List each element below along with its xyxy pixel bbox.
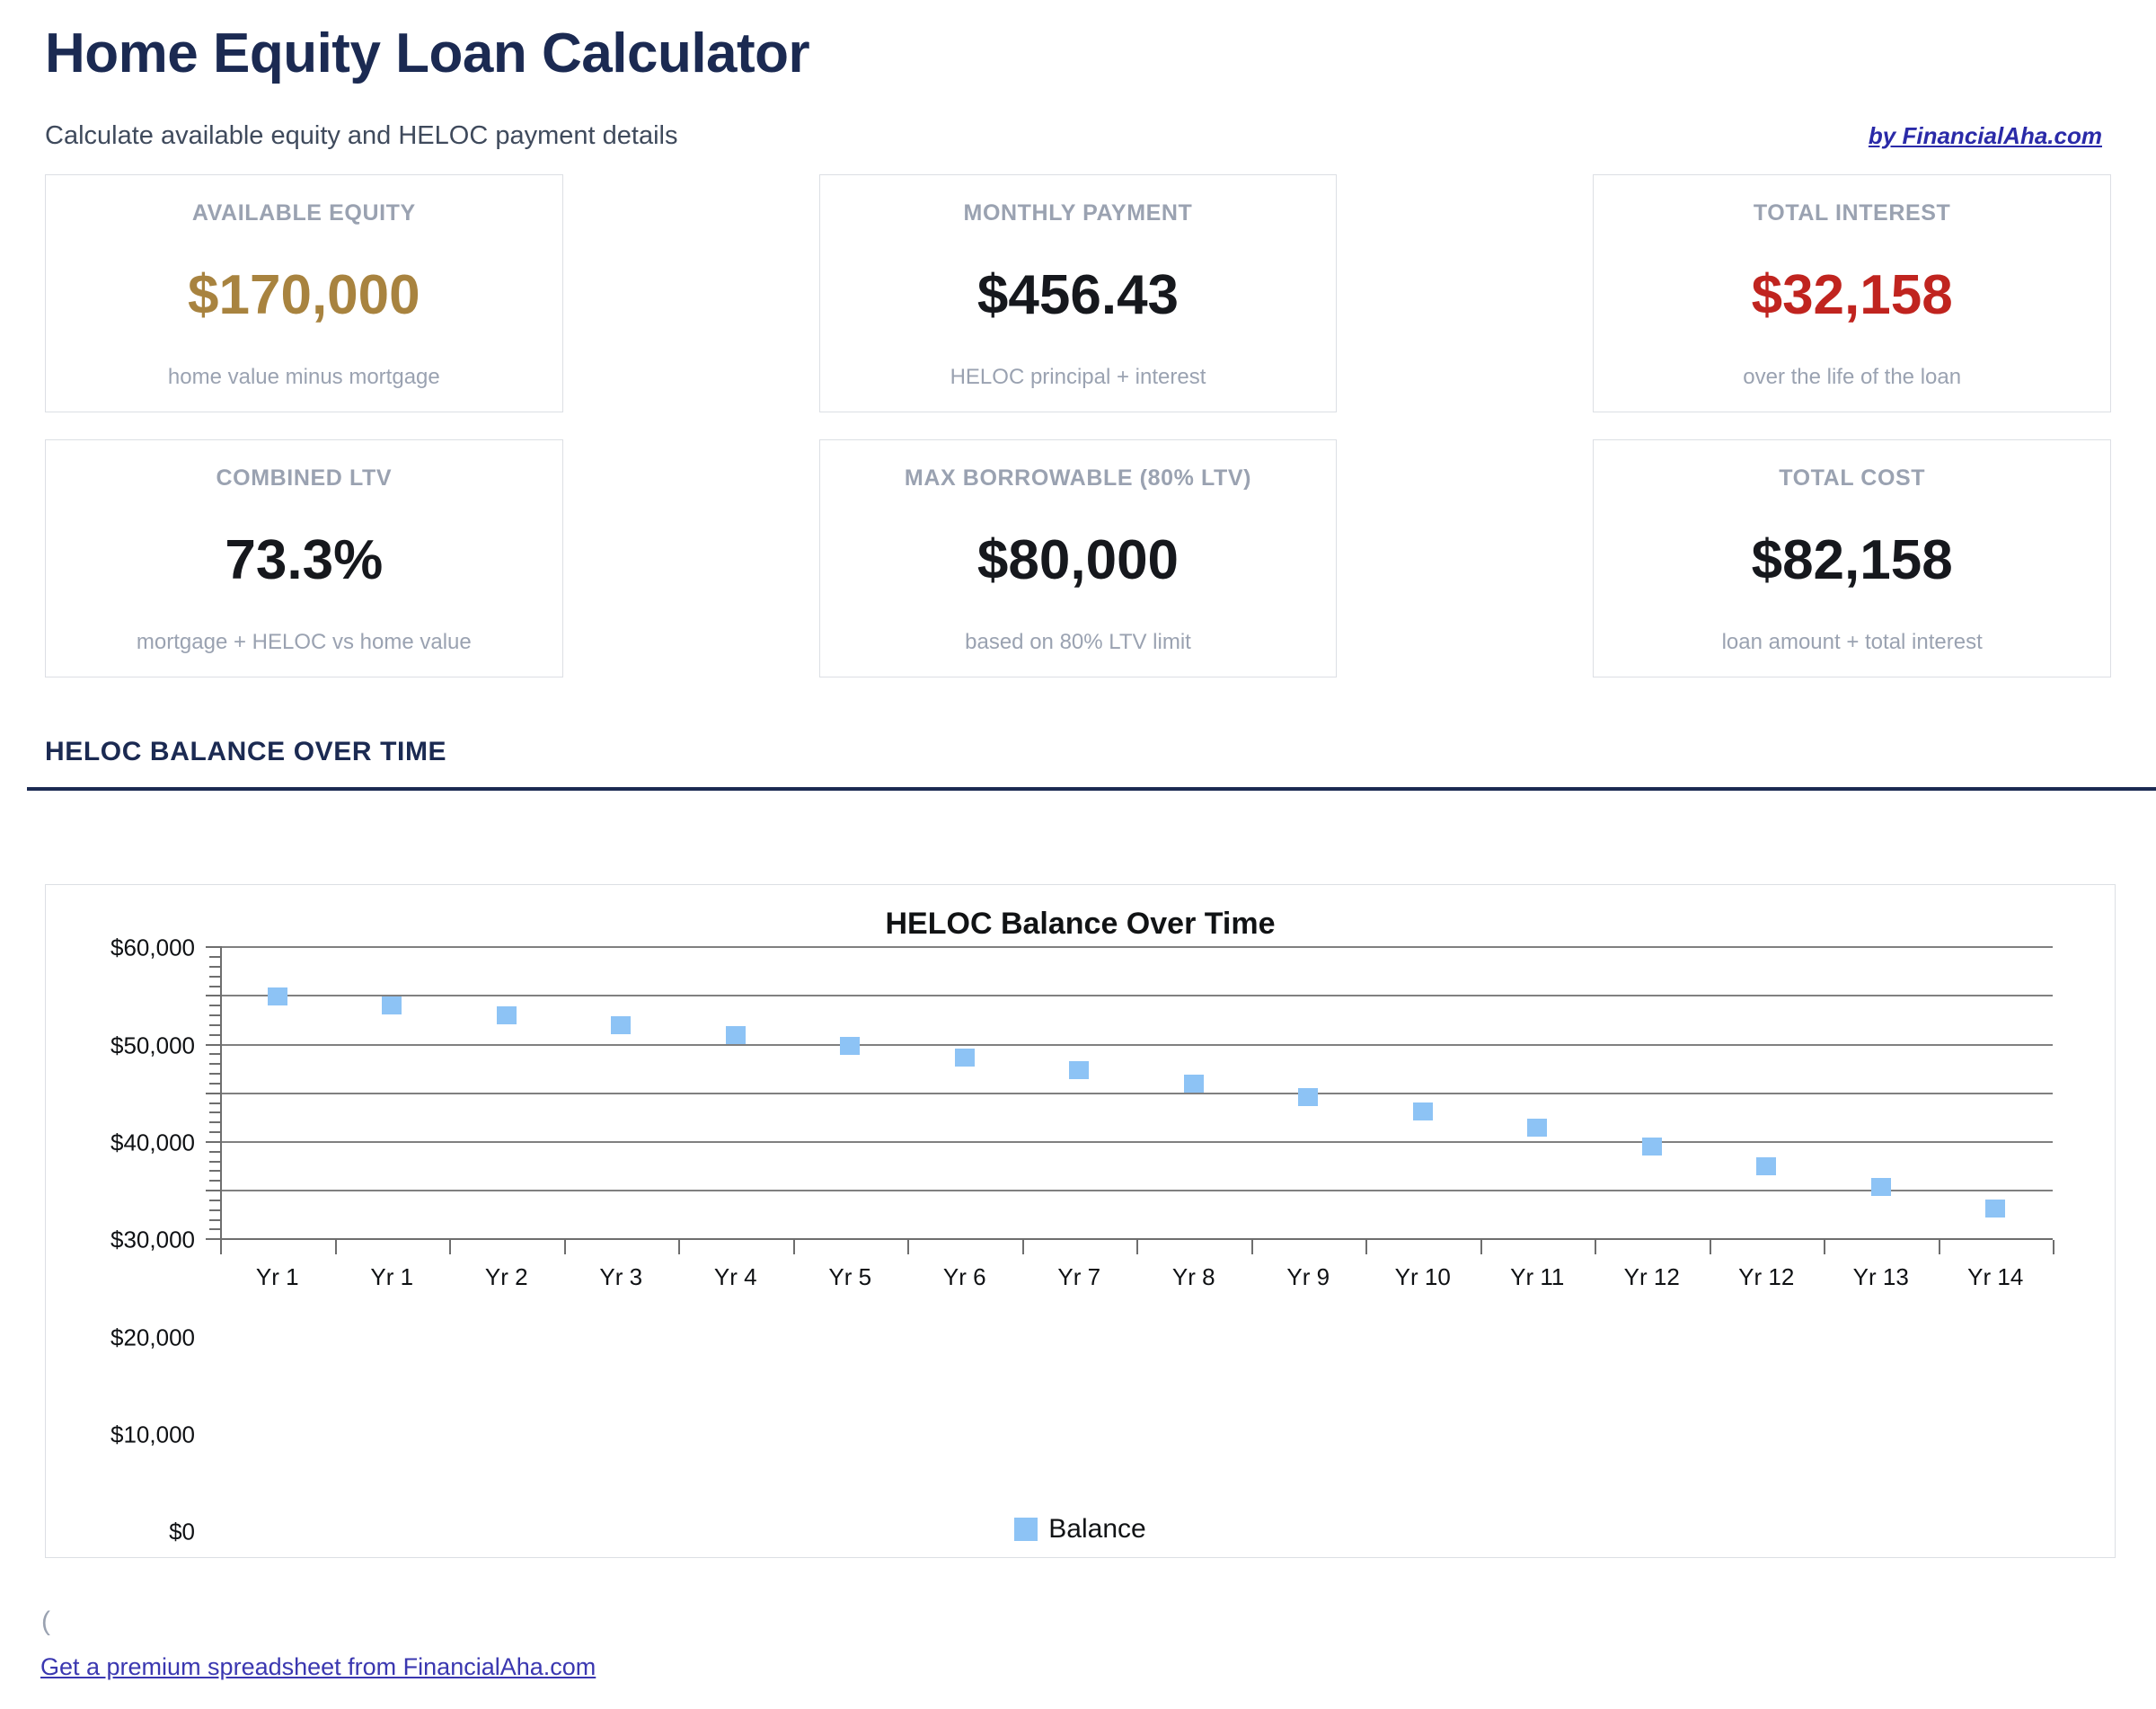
stat-note: loan amount + total interest [1722,630,1983,655]
y-tick-label: $20,000 [110,1324,195,1351]
legend-swatch-balance [1014,1518,1038,1541]
data-point-marker [1642,1138,1662,1156]
section-heading: HELOC BALANCE OVER TIME [45,737,2111,767]
x-tick-label: Yr 10 [1395,1263,1451,1291]
data-point-marker [1413,1102,1433,1120]
y-minor-tick [209,1131,222,1133]
x-tick [335,1240,337,1254]
x-tick-label: Yr 4 [714,1263,757,1291]
stat-card-available-equity: AVAILABLE EQUITY $170,000 home value min… [45,174,563,412]
y-minor-tick [209,986,222,987]
x-tick [678,1240,680,1254]
y-minor-tick [209,1073,222,1075]
y-minor-tick [209,1161,222,1163]
x-tick [449,1240,451,1254]
x-tick [220,1240,222,1254]
y-tick-label: $30,000 [110,1226,195,1254]
y-minor-tick [209,1228,222,1230]
y-tick: $20,000 [206,1141,222,1143]
y-axis: $0$10,000$20,000$30,000$40,000$50,000$60… [220,946,222,1238]
y-minor-tick [209,966,222,968]
page-title: Home Equity Loan Calculator [45,0,2111,85]
stat-value: $82,158 [1752,533,1953,589]
x-tick-label: Yr 14 [1967,1263,2023,1291]
stat-value: $456.43 [977,268,1179,323]
chart-legend: Balance [46,1514,2115,1545]
stat-value: $32,158 [1752,268,1953,323]
x-tick [1251,1240,1253,1254]
stat-card-total-cost: TOTAL COST $82,158 loan amount + total i… [1593,439,2111,677]
data-point-marker [268,987,287,1005]
y-tick: $10,000 [206,1190,222,1191]
gridline [220,946,2053,948]
y-tick-label: $10,000 [110,1421,195,1448]
x-tick-label: Yr 12 [1738,1263,1794,1291]
y-minor-tick [209,1102,222,1104]
x-tick-label: Yr 11 [1510,1263,1564,1291]
legend-label-balance: Balance [1048,1514,1145,1545]
gridline [220,1044,2053,1046]
y-minor-tick [209,1034,222,1036]
data-point-marker [1527,1119,1547,1137]
y-minor-tick [209,1111,222,1113]
x-tick-label: Yr 9 [1286,1263,1330,1291]
x-tick-label: Yr 8 [1172,1263,1215,1291]
x-tick-label: Yr 3 [599,1263,642,1291]
stat-note: home value minus mortgage [168,365,440,390]
data-point-marker [1756,1157,1776,1175]
y-minor-tick [209,1083,222,1085]
data-point-marker [1871,1178,1891,1196]
x-tick [1136,1240,1138,1254]
x-tick [2053,1240,2054,1254]
data-point-marker [1985,1200,2005,1218]
x-tick [1710,1240,1711,1254]
stat-value: $170,000 [188,268,420,323]
y-minor-tick [209,1024,222,1026]
x-tick-label: Yr 13 [1853,1263,1909,1291]
stat-label: COMBINED LTV [216,465,393,491]
data-point-marker [382,996,402,1014]
y-minor-tick [209,1209,222,1211]
data-point-marker [726,1026,746,1044]
y-minor-tick [209,1200,222,1201]
data-point-marker [955,1049,975,1067]
y-tick-label: $60,000 [110,934,195,962]
data-point-marker [611,1016,631,1034]
stat-card-max-borrowable: MAX BORROWABLE (80% LTV) $80,000 based o… [819,439,1338,677]
stat-label: TOTAL INTEREST [1754,200,1951,226]
x-tick [564,1240,566,1254]
y-minor-tick [209,1121,222,1123]
stat-label: TOTAL COST [1779,465,1925,491]
y-minor-tick [209,1053,222,1055]
x-tick [1365,1240,1367,1254]
plot-area [220,946,2053,1238]
data-point-marker [1184,1075,1204,1093]
y-tick-label: $50,000 [110,1032,195,1059]
x-tick [1480,1240,1482,1254]
gridline [220,1141,2053,1143]
y-minor-tick [209,1180,222,1182]
gridline [220,1093,2053,1094]
x-tick-label: Yr 1 [256,1263,299,1291]
stat-note: based on 80% LTV limit [965,630,1191,655]
gridline [220,995,2053,996]
x-tick-label: Yr 2 [485,1263,528,1291]
x-tick-label: Yr 5 [828,1263,871,1291]
section-divider [27,787,2156,791]
gridline [220,1190,2053,1191]
y-minor-tick [209,1151,222,1153]
brand-attribution-link[interactable]: by FinancialAha.com [1869,122,2102,150]
data-point-marker [1069,1061,1089,1079]
stat-note: HELOC principal + interest [950,365,1206,390]
stat-value: $80,000 [977,533,1179,589]
x-tick [907,1240,909,1254]
stat-note: mortgage + HELOC vs home value [137,630,472,655]
stat-note: over the life of the loan [1743,365,1961,390]
data-point-marker [1298,1088,1318,1106]
stat-label: MAX BORROWABLE (80% LTV) [905,465,1251,491]
y-minor-tick [209,1219,222,1221]
x-tick [1939,1240,1940,1254]
y-minor-tick [209,1014,222,1016]
stat-card-monthly-payment: MONTHLY PAYMENT $456.43 HELOC principal … [819,174,1338,412]
y-tick: $30,000 [206,1093,222,1094]
x-tick-label: Yr 6 [943,1263,986,1291]
y-minor-tick [209,1170,222,1172]
clipped-glyph: ( [41,1607,54,1637]
x-tick [1824,1240,1825,1254]
y-minor-tick [209,956,222,958]
x-tick [793,1240,795,1254]
y-minor-tick [209,1005,222,1006]
x-tick-label: Yr 7 [1057,1263,1100,1291]
calculator-page: Home Equity Loan Calculator Calculate av… [0,0,2156,1709]
page-subtitle: Calculate available equity and HELOC pay… [45,121,677,151]
x-tick [1022,1240,1024,1254]
x-tick-label: Yr 12 [1624,1263,1680,1291]
stat-value: 73.3% [225,533,383,589]
y-minor-tick [209,976,222,978]
y-tick: $60,000 [206,946,222,948]
y-minor-tick [209,1063,222,1065]
stat-label: MONTHLY PAYMENT [964,200,1193,226]
stat-label: AVAILABLE EQUITY [192,200,416,226]
premium-spreadsheet-link[interactable]: Get a premium spreadsheet from Financial… [40,1653,596,1681]
stat-card-combined-ltv: COMBINED LTV 73.3% mortgage + HELOC vs h… [45,439,563,677]
x-tick-label: Yr 1 [370,1263,413,1291]
chart-panel: HELOC Balance Over Time $0$10,000$20,000… [45,884,2116,1558]
x-tick [1595,1240,1596,1254]
plot-wrap: $0$10,000$20,000$30,000$40,000$50,000$60… [46,885,2115,1557]
x-axis: Yr 1Yr 1Yr 2Yr 3Yr 4Yr 5Yr 6Yr 7Yr 8Yr 9… [220,1238,2053,1240]
stat-cards-grid: AVAILABLE EQUITY $170,000 home value min… [45,174,2111,677]
y-tick: $40,000 [206,1044,222,1046]
y-tick-label: $40,000 [110,1129,195,1156]
stat-card-total-interest: TOTAL INTEREST $32,158 over the life of … [1593,174,2111,412]
data-point-marker [840,1037,860,1055]
data-point-marker [497,1006,517,1024]
y-tick: $50,000 [206,995,222,996]
subtitle-row: Calculate available equity and HELOC pay… [45,121,2111,151]
